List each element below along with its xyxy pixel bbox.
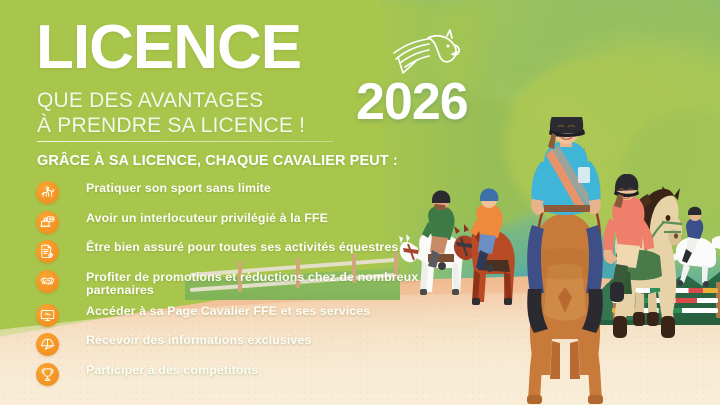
- riding-helmet-icon: [36, 333, 59, 356]
- subtitle-line-2: À PRENDRE SA LICENCE !: [37, 114, 305, 139]
- poster-canvas: LICENCE QUE DES AVANTAGES À PRENDRE SA L…: [0, 0, 720, 405]
- list-item: Avoir un interlocuteur privilégié à la F…: [36, 211, 436, 241]
- page-title: LICENCE: [36, 17, 301, 79]
- text-column: LICENCE QUE DES AVANTAGES À PRENDRE SA L…: [0, 0, 430, 405]
- benefits-heading: GRÂCE À SA LICENCE, CHAQUE CAVALIER PEUT…: [37, 153, 398, 169]
- list-item: Participer à des compétitons: [36, 363, 436, 393]
- list-item-label: Participer à des compétitons: [86, 364, 436, 377]
- horse-rider-icon: [36, 181, 59, 204]
- section-divider: [37, 141, 333, 142]
- list-item: Profiter de promotions et réductions che…: [36, 270, 436, 304]
- year-label: 2026: [356, 76, 468, 128]
- rider-right-coral: [588, 174, 684, 342]
- list-item-label: Pratiquer son sport sans limite: [86, 182, 436, 195]
- list-item-label: Avoir un interlocuteur privilégié à la F…: [86, 212, 436, 225]
- handshake-icon: [36, 270, 59, 293]
- page-subtitle: QUE DES AVANTAGES À PRENDRE SA LICENCE !: [37, 89, 305, 138]
- list-item-label: Accéder à sa Page Cavalier FFE et ses se…: [86, 305, 436, 318]
- ffe-horse-head-logo: [392, 27, 462, 77]
- trophy-icon: [36, 363, 59, 386]
- document-icon: [36, 240, 59, 263]
- benefits-list: Pratiquer son sport sans limite Avoir un…: [36, 181, 436, 393]
- list-item-label: Profiter de promotions et réductions che…: [86, 271, 436, 298]
- monitor-icon: [36, 304, 59, 327]
- list-item: Être bien assuré pour toutes ses activit…: [36, 240, 436, 270]
- list-item: Recevoir des informations exclusives: [36, 333, 436, 363]
- list-item: Pratiquer son sport sans limite: [36, 181, 436, 211]
- list-item: Accéder à sa Page Cavalier FFE et ses se…: [36, 304, 436, 334]
- list-item-label: Être bien assuré pour toutes ses activit…: [86, 241, 436, 254]
- chat-support-icon: [36, 211, 59, 234]
- subtitle-line-1: QUE DES AVANTAGES: [37, 89, 305, 114]
- list-item-label: Recevoir des informations exclusives: [86, 334, 436, 347]
